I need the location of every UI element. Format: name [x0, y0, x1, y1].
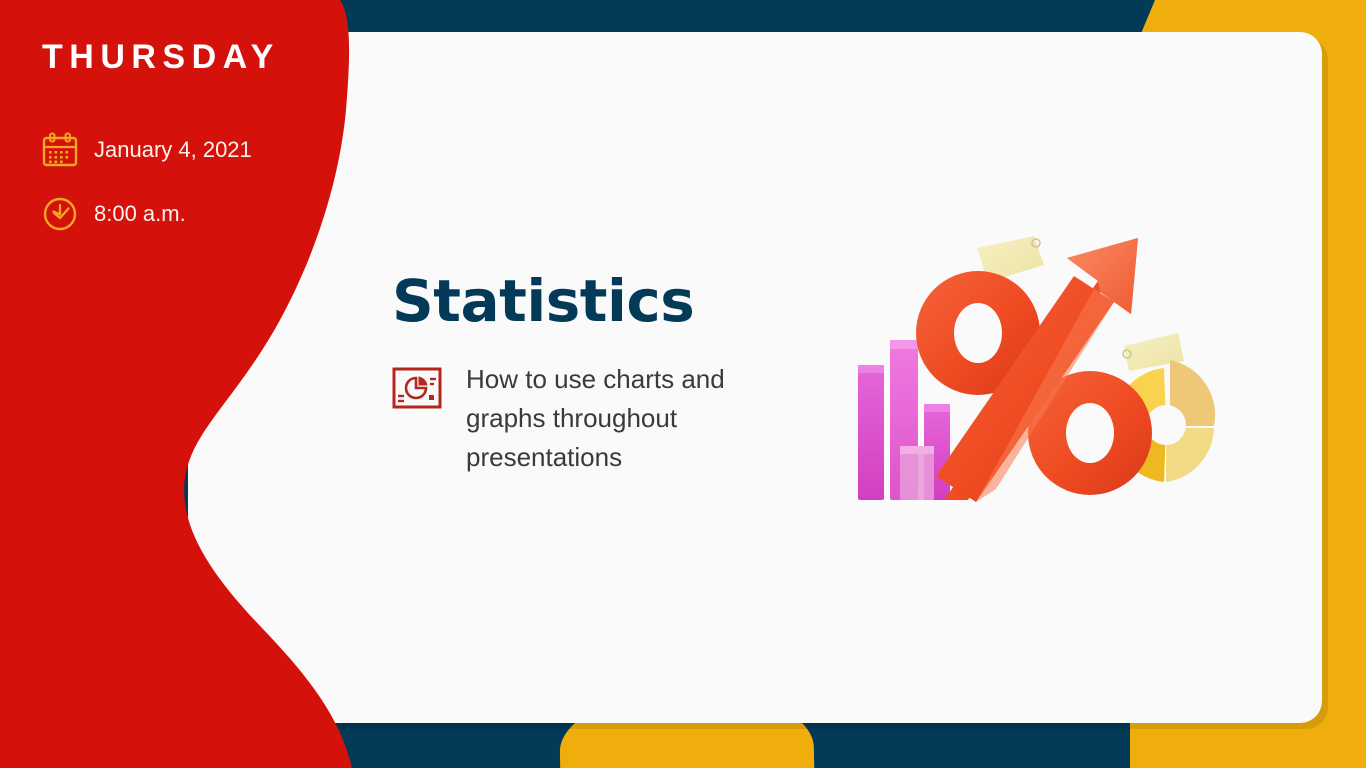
subtitle-text: How to use charts and graphs throughout …: [466, 360, 766, 477]
time-row: 8:00 a.m.: [40, 194, 186, 234]
page-title: Statistics: [392, 272, 694, 330]
percent-sign: [916, 271, 1152, 502]
date-text: January 4, 2021: [94, 138, 252, 162]
clock-icon: [40, 194, 80, 234]
percent-growth-3d-illustration: [848, 218, 1238, 518]
left-info-column: THURSDAY: [40, 0, 340, 768]
presentation-slide: THURSDAY: [0, 0, 1366, 768]
date-row: January 4, 2021: [40, 130, 252, 170]
time-text: 8:00 a.m.: [94, 202, 186, 226]
subtitle-block: How to use charts and graphs throughout …: [392, 360, 792, 477]
calendar-icon: [40, 130, 80, 170]
pie-chart-presentation-icon: [392, 366, 442, 410]
day-of-week-label: THURSDAY: [42, 40, 280, 74]
